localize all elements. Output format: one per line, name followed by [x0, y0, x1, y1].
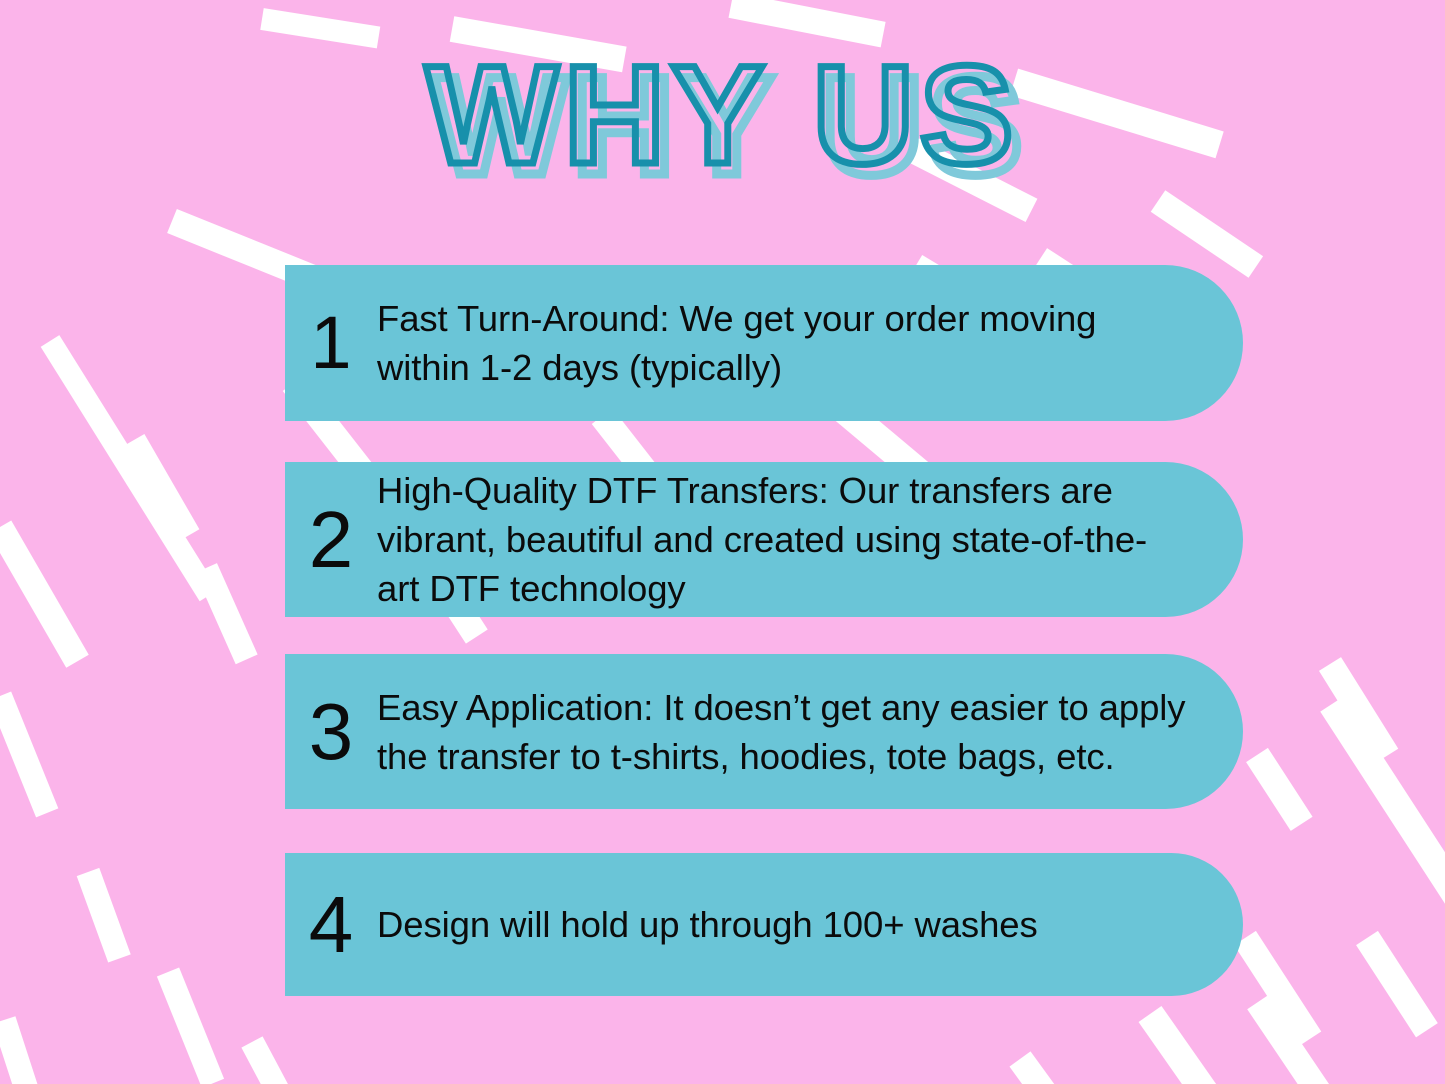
stripe-dash	[41, 335, 219, 601]
stripe-dash	[0, 692, 58, 818]
benefit-number: 2	[285, 502, 377, 578]
benefit-text: Easy Application: It doesn’t get any eas…	[377, 683, 1243, 781]
page-title: WHY US WHY US WHY US	[0, 40, 1445, 200]
benefit-card[interactable]: 3 Easy Application: It doesn’t get any e…	[285, 654, 1243, 809]
benefit-text: Fast Turn-Around: We get your order movi…	[377, 294, 1243, 392]
stripe-dash	[1247, 995, 1330, 1084]
benefit-text: Design will hold up through 100+ washes	[377, 900, 1243, 949]
page-title-outline: WHY US	[0, 40, 1445, 190]
stripe-dash	[241, 1036, 305, 1084]
stripe-dash	[1009, 1051, 1095, 1084]
stripe-dash	[1320, 696, 1445, 963]
stripe-dash	[1356, 931, 1438, 1037]
benefit-card[interactable]: 4 Design will hold up through 100+ washe…	[285, 853, 1243, 996]
stripe-dash	[0, 521, 89, 668]
stripe-dash	[195, 563, 258, 664]
poster-canvas: WHY US WHY US WHY US 1 Fast Turn-Around:…	[0, 0, 1445, 1084]
stripe-dash	[124, 434, 200, 541]
benefit-number: 3	[285, 694, 377, 770]
stripe-dash	[0, 1016, 46, 1084]
benefit-text: High-Quality DTF Transfers: Our transfer…	[377, 466, 1243, 613]
stripe-dash	[1319, 657, 1398, 762]
benefit-number: 4	[285, 887, 377, 963]
stripe-dash	[157, 968, 224, 1084]
stripe-dash	[1234, 931, 1321, 1046]
benefit-card[interactable]: 2 High-Quality DTF Transfers: Our transf…	[285, 462, 1243, 617]
benefit-number: 1	[285, 305, 377, 381]
stripe-dash	[1246, 748, 1312, 831]
stripe-dash	[1139, 1006, 1237, 1084]
stripe-dash	[77, 868, 131, 963]
benefit-card[interactable]: 1 Fast Turn-Around: We get your order mo…	[285, 265, 1243, 421]
